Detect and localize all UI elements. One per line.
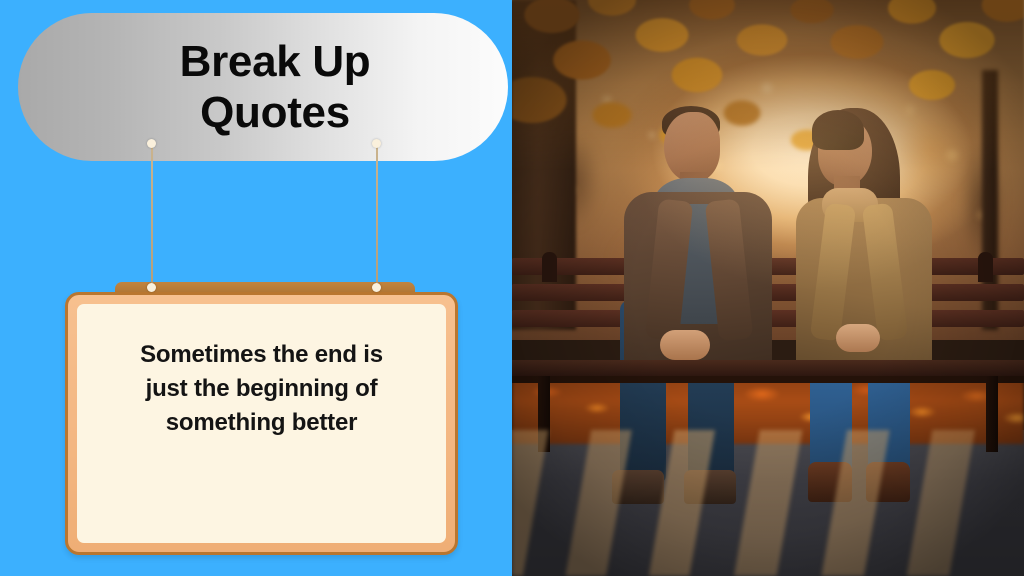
hanging-string-left [151, 143, 153, 289]
poster-canvas: Break Up Quotes Sometimes the end is jus… [0, 0, 1024, 576]
quote-line-1: Sometimes the end is [140, 338, 383, 372]
bench-seat [512, 360, 1024, 376]
left-content-panel: Break Up Quotes Sometimes the end is jus… [0, 0, 512, 576]
bench-armrest-left [542, 252, 557, 282]
man-clasped-hands [660, 330, 710, 360]
path-sunlight-shadows [512, 430, 1024, 576]
quote-line-3: something better [140, 406, 383, 440]
woman-clasped-hands [836, 324, 880, 352]
couple-on-bench-photo [512, 0, 1024, 576]
bench-armrest-right [978, 252, 993, 282]
woman-hair-front [812, 110, 864, 150]
sign-pin-right [372, 283, 381, 292]
title-banner: Break Up Quotes [18, 13, 508, 161]
quote-sign-paper: Sometimes the end is just the beginning … [77, 304, 446, 543]
bench-seat-edge [512, 376, 1024, 383]
quote-line-2: just the beginning of [140, 372, 383, 406]
string-anchor-top-left [147, 139, 156, 148]
string-anchor-top-right [372, 139, 381, 148]
quote-sign-board: Sometimes the end is just the beginning … [65, 292, 458, 555]
sign-pin-left [147, 283, 156, 292]
quote-text: Sometimes the end is just the beginning … [140, 338, 383, 543]
hanging-string-right [376, 143, 378, 289]
title-line-1: Break Up [156, 36, 371, 87]
title-line-2: Quotes [176, 87, 350, 138]
